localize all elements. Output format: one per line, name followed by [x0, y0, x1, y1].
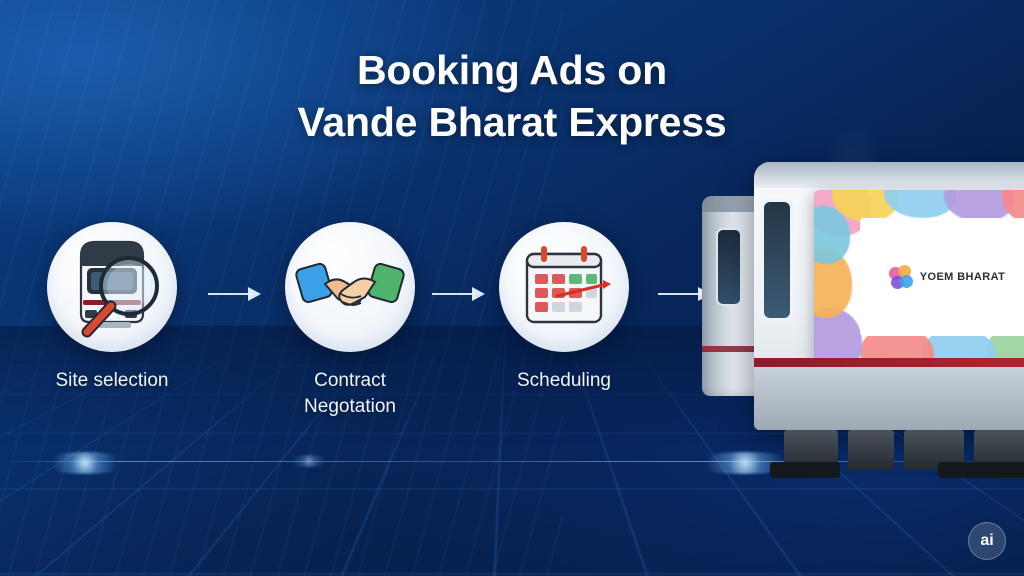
- billboard-ad-content: YOEM BHARAT: [860, 218, 1024, 336]
- billboard-ad-text: YOEM BHARAT: [920, 271, 1005, 283]
- icon-circle-site-selection: [47, 222, 177, 352]
- icon-circle-scheduling: [499, 222, 629, 352]
- flow-step-label-contract-negotiation: Contract Negotation: [270, 368, 430, 419]
- train-illustration: YOEM BHARAT: [688, 148, 1024, 478]
- ai-watermark-badge: ai: [968, 522, 1006, 560]
- train-car-front: YOEM BHARAT: [754, 162, 1024, 430]
- train-billboard-ad: YOEM BHARAT: [814, 190, 1024, 364]
- train-door: [764, 202, 790, 318]
- light-flare-center: [286, 455, 332, 467]
- title-line-2: Vande Bharat Express: [0, 96, 1024, 148]
- train-bogie: [938, 462, 1024, 478]
- flow-step-site-selection[interactable]: Site selection: [32, 222, 192, 394]
- flow-step-scheduling[interactable]: Scheduling: [484, 222, 644, 394]
- colorful-flower-logo-icon: [889, 265, 913, 289]
- train-underframe-box: [848, 430, 894, 470]
- train-bogie: [770, 462, 840, 478]
- train-red-stripe: [754, 358, 1024, 367]
- arrow-right-icon-1: [208, 284, 266, 304]
- flow-step-label-scheduling: Scheduling: [484, 368, 644, 394]
- calendar-icon: [499, 222, 629, 352]
- light-flare-left: [40, 452, 130, 474]
- train-lower-body: [754, 367, 1024, 430]
- train-magnifier-icon: [47, 222, 177, 352]
- slide-canvas: Booking Ads on Vande Bharat Express: [0, 0, 1024, 576]
- flow-step-label-site-selection: Site selection: [32, 368, 192, 394]
- title-line-1: Booking Ads on: [357, 47, 667, 93]
- process-flow: Site selection Contrac: [22, 222, 722, 452]
- arrow-right-icon-2: [432, 284, 490, 304]
- handshake-icon: [285, 222, 415, 352]
- icon-circle-contract-negotiation: [285, 222, 415, 352]
- flow-step-contract-negotiation[interactable]: Contract Negotation: [270, 222, 430, 419]
- page-title: Booking Ads on Vande Bharat Express: [0, 44, 1024, 149]
